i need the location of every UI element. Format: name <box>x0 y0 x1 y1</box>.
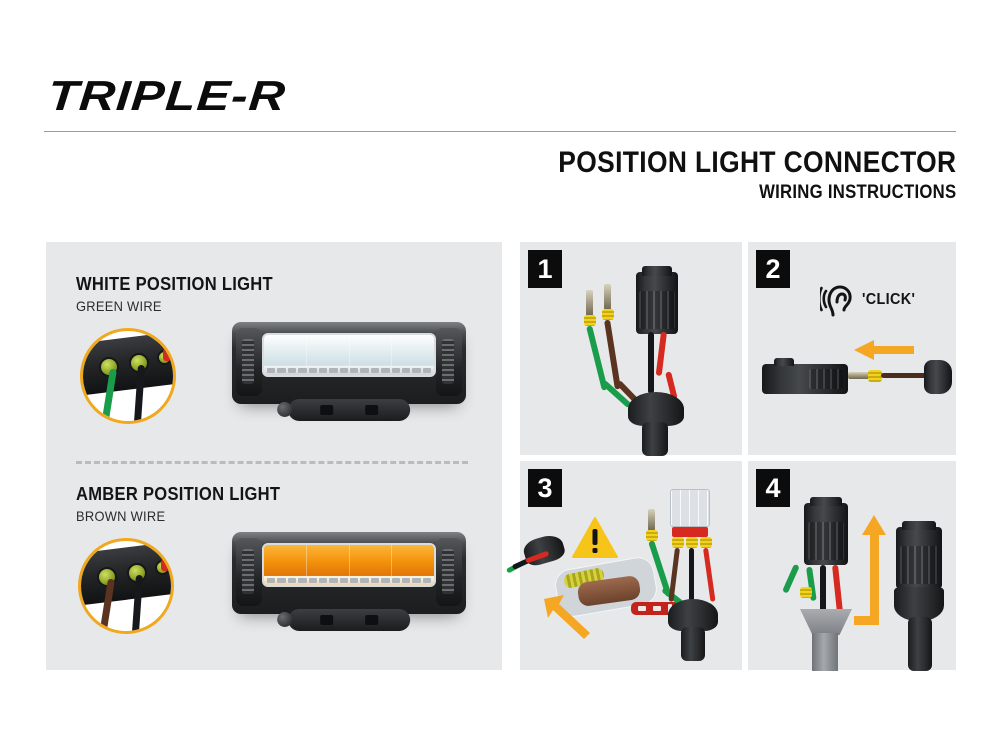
led <box>288 368 296 373</box>
connector-cap <box>810 497 842 506</box>
led <box>277 578 285 583</box>
led <box>319 578 327 583</box>
connector-ridges <box>639 291 674 329</box>
led <box>329 368 337 373</box>
wire-red <box>656 332 667 376</box>
led <box>381 578 389 583</box>
variant-title-white: WHITE POSITION LIGHT <box>76 274 273 295</box>
led-strip <box>264 366 434 375</box>
led <box>288 578 296 583</box>
wire-red-tip <box>161 559 169 571</box>
wire-green <box>782 564 800 594</box>
cable-boot <box>628 392 684 426</box>
led <box>350 578 358 583</box>
variant-heading-white: WHITE POSITION LIGHT GREEN WIRE <box>76 274 290 314</box>
brand-logo: TRIPLE-R <box>46 72 288 120</box>
page-subtitle: WIRING INSTRUCTIONS <box>558 182 956 204</box>
led <box>360 368 368 373</box>
lightbar-endcap-right <box>436 328 462 396</box>
led <box>423 368 431 373</box>
terminal-seal <box>686 537 698 548</box>
product-variants-panel: WHITE POSITION LIGHT GREEN WIRE <box>46 242 502 670</box>
terminal-seal <box>672 537 684 548</box>
wire-brown <box>604 320 621 390</box>
step-number-badge-2: 2 <box>756 250 790 288</box>
led <box>267 368 275 373</box>
header-divider <box>44 131 956 132</box>
connector-collar <box>800 609 852 635</box>
lightbar-lens-amber <box>262 543 436 587</box>
connector-closeup-white <box>80 328 176 424</box>
led <box>402 578 410 583</box>
led <box>267 578 275 583</box>
terminal-pin <box>586 290 593 316</box>
bracket-knob <box>277 612 292 627</box>
terminal-pin <box>848 372 870 379</box>
page-title: POSITION LIGHT CONNECTOR <box>558 146 956 180</box>
variant-heading-amber: AMBER POSITION LIGHT BROWN WIRE <box>76 484 298 524</box>
led <box>350 368 358 373</box>
wire-black <box>648 332 654 394</box>
cable-sleeve <box>681 627 705 661</box>
led <box>392 578 400 583</box>
led <box>329 578 337 583</box>
terminal-seal <box>800 587 812 598</box>
connector-ridges <box>809 369 843 388</box>
led <box>360 578 368 583</box>
terminal-seal <box>584 315 596 326</box>
wire-red <box>832 565 843 613</box>
led <box>298 578 306 583</box>
connector-plug <box>804 503 848 565</box>
section-divider <box>76 461 468 464</box>
led <box>412 368 420 373</box>
page-title-block: POSITION LIGHT CONNECTOR WIRING INSTRUCT… <box>504 146 956 204</box>
wire-brown <box>881 373 929 378</box>
warning-triangle-icon <box>572 517 618 559</box>
connector-socket <box>762 364 848 394</box>
step-number-badge-3: 3 <box>528 469 562 507</box>
connector-clear-housing <box>670 489 710 527</box>
step-panel-2: 2 'CLICK' <box>748 242 956 455</box>
connector-closeup-amber <box>78 538 174 634</box>
arrow-up-left-icon <box>542 591 594 643</box>
led <box>319 368 327 373</box>
cable-sleeve <box>908 617 932 671</box>
wire-black <box>820 565 826 613</box>
terminal-seal <box>868 370 882 382</box>
connector-ridges <box>900 546 939 584</box>
led <box>309 578 317 583</box>
lightbar-endcap-left <box>236 328 262 396</box>
connector-plug <box>636 272 678 334</box>
ear-icon <box>820 282 854 318</box>
terminal-row <box>672 527 708 537</box>
arrow-up-icon <box>852 513 898 635</box>
led <box>392 368 400 373</box>
wire-brown <box>668 548 680 602</box>
step-panel-1: 1 <box>520 242 742 455</box>
cable-boot <box>894 587 944 621</box>
connector-ridges <box>808 522 845 560</box>
cable-end-cap <box>924 360 952 394</box>
led <box>402 368 410 373</box>
click-indicator: 'CLICK' <box>820 282 918 318</box>
terminal-pin <box>604 284 611 310</box>
step-panel-3: 3 <box>520 461 742 670</box>
mounting-bracket <box>288 609 410 631</box>
led-strip <box>264 576 434 585</box>
led <box>309 368 317 373</box>
step-number-badge-1: 1 <box>528 250 562 288</box>
wire-red-tip <box>163 349 171 361</box>
led <box>381 368 389 373</box>
lightbar-endcap-left <box>236 538 262 606</box>
variant-subtitle-amber: BROWN WIRE <box>76 508 280 524</box>
led <box>371 368 379 373</box>
variant-subtitle-white: GREEN WIRE <box>76 298 273 314</box>
led <box>340 578 348 583</box>
led <box>371 578 379 583</box>
led <box>340 368 348 373</box>
cable-sleeve <box>812 633 838 671</box>
lightbar-white <box>232 322 466 404</box>
bracket-knob <box>277 402 292 417</box>
led <box>423 578 431 583</box>
terminal-seal <box>700 537 712 548</box>
instruction-sheet: TRIPLE-R POSITION LIGHT CONNECTOR WIRING… <box>0 0 1000 750</box>
terminal-seal <box>602 309 614 320</box>
step-panel-4: 4 <box>748 461 956 670</box>
led <box>412 578 420 583</box>
lightbar-amber <box>232 532 466 614</box>
lightbar-endcap-right <box>436 538 462 606</box>
mounting-bracket <box>288 399 410 421</box>
terminal-seal <box>646 530 658 541</box>
led <box>277 368 285 373</box>
connector-cap <box>642 266 672 276</box>
connector-latch <box>774 358 794 366</box>
terminal-pin <box>648 509 655 531</box>
led <box>298 368 306 373</box>
lightbar-lens-white <box>262 333 436 377</box>
cable-sleeve <box>642 422 668 456</box>
wire-red <box>703 548 715 602</box>
connector-cap <box>902 521 936 530</box>
variant-title-amber: AMBER POSITION LIGHT <box>76 484 280 505</box>
arrow-left-icon <box>852 340 914 360</box>
click-label: 'CLICK' <box>862 291 915 309</box>
connector-plug-assembled <box>896 527 942 589</box>
step-number-badge-4: 4 <box>756 469 790 507</box>
wire-black <box>689 548 694 602</box>
